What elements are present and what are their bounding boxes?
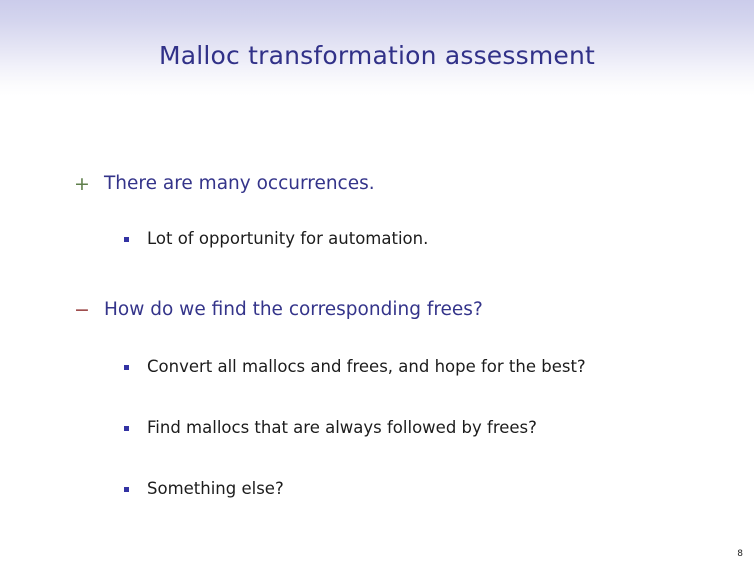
bullet-item-level2-label: Convert all mallocs and frees, and hope … (147, 356, 586, 378)
bullet-dot-icon (124, 365, 129, 370)
bullet-item-level2: Lot of opportunity for automation. (0, 228, 754, 252)
bullet-item-level2: Convert all mallocs and frees, and hope … (0, 356, 754, 380)
slide-title: Malloc transformation assessment (0, 41, 754, 70)
bullet-item-level2-label: Find mallocs that are always followed by… (147, 417, 537, 439)
bullet-item-level2-label: Lot of opportunity for automation. (147, 228, 428, 250)
bullet-item-level1: + There are many occurrences. (0, 172, 754, 198)
bullet-item-level2: Find mallocs that are always followed by… (0, 417, 754, 441)
bullet-dot-icon (124, 487, 129, 492)
bullet-item-level1-label: How do we find the corresponding frees? (104, 298, 483, 322)
bullet-item-level2: Something else? (0, 478, 754, 502)
slide-body: + There are many occurrences. Lot of opp… (0, 96, 754, 566)
bullet-dot-icon (124, 426, 129, 431)
plus-marker-icon: + (74, 172, 96, 196)
bullet-item-level1-label: There are many occurrences. (104, 172, 375, 196)
bullet-item-level1: − How do we find the corresponding frees… (0, 298, 754, 324)
bullet-dot-icon (124, 237, 129, 242)
page-number: 8 (737, 549, 743, 560)
minus-marker-icon: − (74, 298, 96, 322)
presentation-slide: Malloc transformation assessment + There… (0, 0, 754, 566)
bullet-item-level2-label: Something else? (147, 478, 284, 500)
